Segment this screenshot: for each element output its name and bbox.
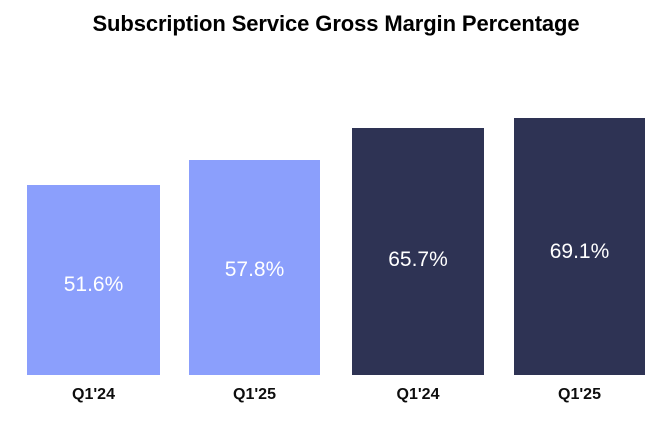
bar-group: 69.1% [514, 118, 645, 375]
category-label: Q1'25 [514, 386, 645, 404]
bar[interactable]: 51.6% [27, 185, 160, 375]
bar-value-label: 69.1% [514, 240, 645, 264]
bar-value-label: 65.7% [352, 248, 484, 272]
category-label: Q1'25 [189, 386, 320, 404]
bar-group: 57.8% [189, 160, 320, 375]
plot-area: 51.6% 57.8% 65.7% 69.1% Q1'24 Q1'25 Q1'2… [0, 0, 672, 432]
bar-group: 65.7% [352, 128, 484, 375]
bar-value-label: 51.6% [27, 273, 160, 297]
bar[interactable]: 65.7% [352, 128, 484, 375]
bar-group: 51.6% [27, 185, 160, 375]
bar-value-label: 57.8% [189, 258, 320, 282]
chart-container: Subscription Service Gross Margin Percen… [0, 0, 672, 432]
bar[interactable]: 57.8% [189, 160, 320, 375]
bar[interactable]: 69.1% [514, 118, 645, 375]
category-label: Q1'24 [27, 386, 160, 404]
category-label: Q1'24 [352, 386, 484, 404]
